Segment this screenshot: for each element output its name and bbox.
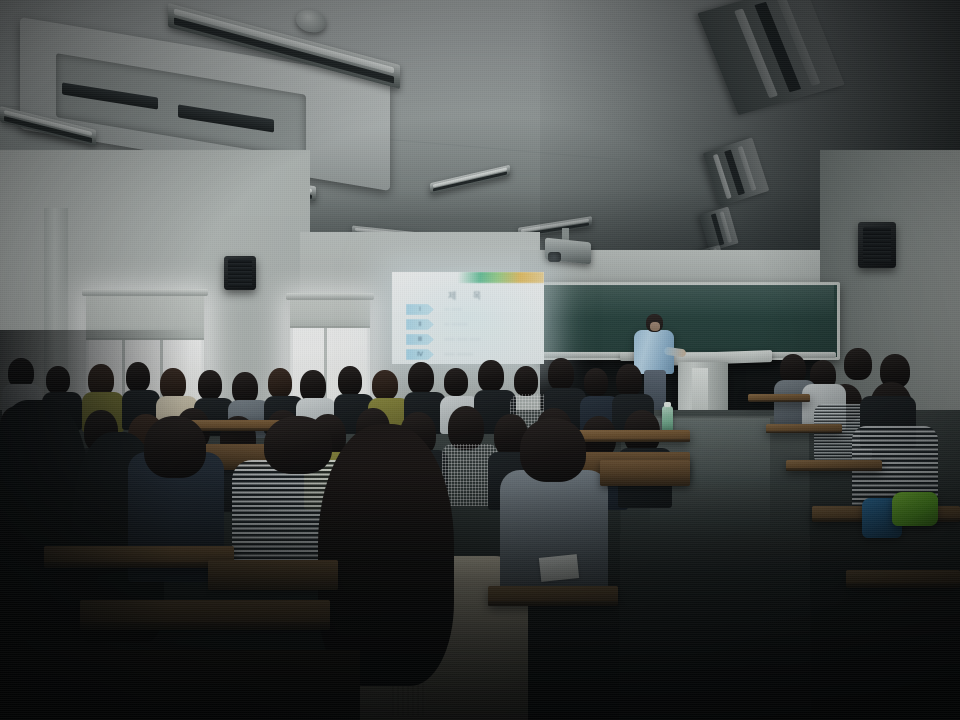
slide-list-item: Ⅰ ㅡ ㅡㅡ bbox=[406, 304, 534, 317]
lecturer-face bbox=[650, 322, 660, 331]
desk bbox=[748, 394, 810, 402]
student-head bbox=[520, 418, 586, 482]
green-jacket bbox=[892, 492, 938, 526]
handout-paper bbox=[539, 554, 579, 582]
slide-item-number: Ⅱ bbox=[406, 319, 434, 330]
bench-seat bbox=[600, 460, 690, 486]
slide-list-item: Ⅲ ㅡㅡ ㅡㅡ ㅡㅡ bbox=[406, 334, 534, 347]
desk bbox=[44, 546, 234, 568]
desk bbox=[0, 650, 360, 720]
slide-accent-gradient bbox=[458, 272, 544, 283]
slide-item-text: ㅡ ㅡㅡ bbox=[444, 305, 462, 314]
slide-item-text: ㅡㅡ ㅡㅡ ㅡㅡ bbox=[444, 335, 480, 344]
wall-speaker-left bbox=[224, 256, 256, 290]
wall-speaker-right bbox=[858, 222, 896, 268]
projector-lens-icon bbox=[548, 252, 561, 262]
lecture-hall-photo: 제 목 Ⅰ ㅡ ㅡㅡ Ⅱ ㅡ ㅡㅡㅡ Ⅲ ㅡㅡ ㅡㅡ ㅡㅡ Ⅳ ㅡㅡ ㅡㅡㅡ bbox=[0, 0, 960, 720]
slide-item-number: Ⅲ bbox=[406, 334, 434, 345]
slide-item-text: ㅡ ㅡㅡㅡ bbox=[444, 320, 468, 329]
desk bbox=[766, 424, 842, 433]
desk bbox=[80, 600, 330, 630]
student-long-hair bbox=[318, 424, 454, 686]
student-head bbox=[264, 416, 332, 474]
desk bbox=[786, 460, 882, 471]
chalkboard-sheen bbox=[536, 284, 834, 318]
slide-title: 제 목 bbox=[392, 289, 544, 302]
desk bbox=[846, 570, 960, 588]
student-head bbox=[144, 416, 206, 478]
bench-seat bbox=[208, 560, 338, 590]
desk bbox=[488, 586, 618, 606]
slide-list-item: Ⅱ ㅡ ㅡㅡㅡ bbox=[406, 319, 534, 332]
slide-item-number: Ⅰ bbox=[406, 304, 434, 315]
